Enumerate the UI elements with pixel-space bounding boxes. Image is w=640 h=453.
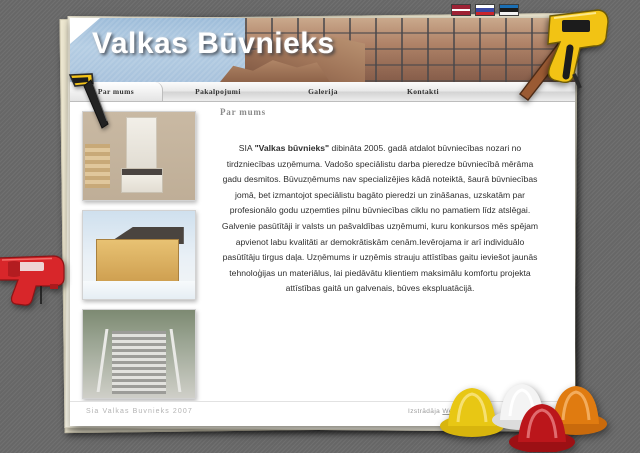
yellow-staple-gun-icon [540, 4, 618, 90]
house-snow-detail [83, 281, 195, 299]
flag-latvia-icon[interactable] [451, 4, 471, 16]
article-intro-prefix: SIA [239, 143, 255, 153]
thumbnail-yellow-house[interactable] [82, 210, 196, 300]
nav-item-galerija[interactable]: Galerija [273, 82, 373, 101]
stairs-steps-detail [112, 331, 166, 394]
footer-copyright: Sia Valkas Buvnieks 2007 [86, 408, 193, 415]
stairs-left-rail-detail [96, 329, 108, 392]
article: Par mums SIA "Valkas būvnieks" dibināta … [210, 107, 550, 297]
nav-item-pakalpojumi[interactable]: Pakalpojumi [163, 82, 273, 101]
page-root: Valkas Būvnieks Par mums Pakalpojumi Gal… [0, 0, 640, 453]
nav-item-kontakti[interactable]: Kontakti [373, 82, 473, 101]
stairs-right-rail-detail [170, 329, 182, 392]
main-navigation: Par mums Pakalpojumi Galerija Kontakti [70, 82, 575, 102]
article-company-name: "Valkas būvnieks" [255, 143, 330, 153]
site-brand-title: Valkas Būvnieks [92, 27, 335, 61]
content-area: Par mums SIA "Valkas būvnieks" dibināta … [70, 101, 575, 403]
hard-hats-icon [436, 368, 626, 452]
article-body-text: dibināta 2005. gadā atdalot būvniecības … [222, 143, 538, 293]
language-switcher [451, 4, 519, 16]
hand-saw-icon [66, 72, 112, 130]
red-power-drill-icon [0, 248, 70, 310]
fireplace-stairs-detail [85, 144, 110, 188]
header-banner: Valkas Būvnieks [70, 18, 575, 82]
house-body-detail [96, 239, 179, 281]
thumbnail-column [82, 111, 197, 408]
thumbnail-concrete-stairs[interactable] [82, 309, 196, 399]
flag-russia-icon[interactable] [475, 4, 495, 16]
page-title: Par mums [220, 107, 550, 117]
article-body: SIA "Valkas būvnieks" dibināta 2005. gad… [210, 141, 550, 297]
flag-estonia-icon[interactable] [499, 4, 519, 16]
content-page: Valkas Būvnieks Par mums Pakalpojumi Gal… [70, 18, 575, 426]
